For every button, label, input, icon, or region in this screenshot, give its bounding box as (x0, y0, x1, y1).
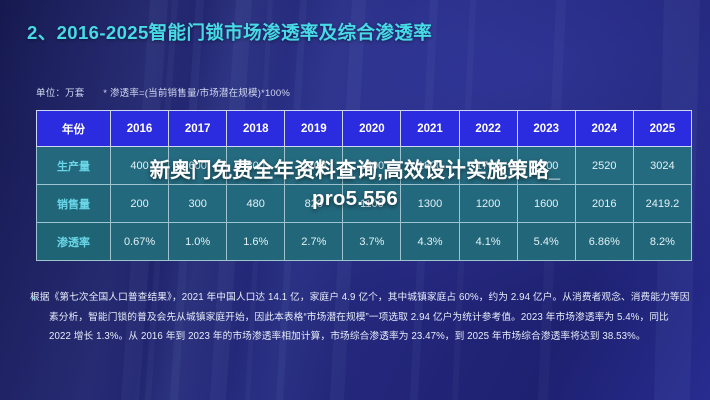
cell-sales-2023: 1600 (517, 185, 575, 223)
bullet-arrow-icon: ➢ (30, 289, 38, 309)
column-header-2016: 2016 (111, 111, 169, 147)
page-title: 2、2016-2025智能门锁市场渗透率及综合渗透率 (27, 19, 432, 45)
formula-note: * 渗透率=(当前销售量/市场潜在规模)*100% (103, 88, 290, 99)
cell-production-2019: 1200 (285, 147, 343, 185)
row-label-penetration: 渗透率 (37, 223, 111, 261)
cell-production-2016: 400 (111, 147, 169, 185)
column-header-2018: 2018 (227, 111, 285, 147)
column-header-2019: 2019 (285, 111, 343, 147)
table-body: 生产量 400 600 800 1200 1500 1800 1700 2100… (37, 147, 692, 261)
cell-production-2022: 1700 (459, 147, 517, 185)
column-header-2022: 2022 (459, 111, 517, 147)
cell-sales-2022: 1200 (459, 185, 517, 223)
cell-sales-2025: 2419.2 (633, 185, 691, 223)
cell-production-2024: 2520 (575, 147, 633, 185)
analysis-paragraph-text: 根据《第七次全国人口普查结果》，2021 年中国人口达 14.1 亿，家庭户 4… (30, 288, 690, 347)
column-header-2023: 2023 (517, 111, 575, 147)
table-row: 渗透率 0.67% 1.0% 1.6% 2.7% 3.7% 4.3% 4.1% … (37, 223, 692, 261)
column-header-2025: 2025 (633, 111, 691, 147)
cell-penetration-2019: 2.7% (285, 223, 343, 261)
row-label-sales: 销售量 (37, 185, 111, 223)
table-header-row: 年份 2016 2017 2018 2019 2020 2021 2022 20… (37, 111, 692, 147)
cell-penetration-2018: 1.6% (227, 223, 285, 261)
cell-penetration-2016: 0.67% (111, 223, 169, 261)
cell-production-2023: 2100 (517, 147, 575, 185)
cell-penetration-2023: 5.4% (517, 223, 575, 261)
cell-sales-2017: 300 (169, 185, 227, 223)
column-header-2024: 2024 (575, 111, 633, 147)
market-penetration-table: 年份 2016 2017 2018 2019 2020 2021 2022 20… (36, 110, 692, 261)
table-row: 销售量 200 300 480 820 1100 1300 1200 1600 … (37, 185, 692, 223)
cell-sales-2019: 820 (285, 185, 343, 223)
cell-penetration-2025: 8.2% (633, 223, 691, 261)
cell-penetration-2021: 4.3% (401, 223, 459, 261)
cell-penetration-2024: 6.86% (575, 223, 633, 261)
cell-production-2017: 600 (169, 147, 227, 185)
unit-and-formula-note: 单位：万套 * 渗透率=(当前销售量/市场潜在规模)*100% (36, 85, 290, 99)
cell-sales-2020: 1100 (343, 185, 401, 223)
cell-sales-2024: 2016 (575, 185, 633, 223)
cell-sales-2021: 1300 (401, 185, 459, 223)
cell-production-2021: 1800 (401, 147, 459, 185)
cell-sales-2018: 480 (227, 185, 285, 223)
table-row: 生产量 400 600 800 1200 1500 1800 1700 2100… (37, 147, 692, 185)
column-header-2020: 2020 (343, 111, 401, 147)
cell-penetration-2017: 1.0% (169, 223, 227, 261)
column-header-2017: 2017 (169, 111, 227, 147)
cell-production-2018: 800 (227, 147, 285, 185)
analysis-paragraph: ➢ 根据《第七次全国人口普查结果》，2021 年中国人口达 14.1 亿，家庭户… (30, 288, 690, 347)
column-header-year: 年份 (37, 111, 111, 147)
unit-note: 单位：万套 (36, 88, 85, 99)
table-head: 年份 2016 2017 2018 2019 2020 2021 2022 20… (37, 111, 692, 147)
column-header-2021: 2021 (401, 111, 459, 147)
row-label-production: 生产量 (37, 147, 111, 185)
cell-penetration-2022: 4.1% (459, 223, 517, 261)
cell-production-2020: 1500 (343, 147, 401, 185)
cell-penetration-2020: 3.7% (343, 223, 401, 261)
cell-sales-2016: 200 (111, 185, 169, 223)
cell-production-2025: 3024 (633, 147, 691, 185)
